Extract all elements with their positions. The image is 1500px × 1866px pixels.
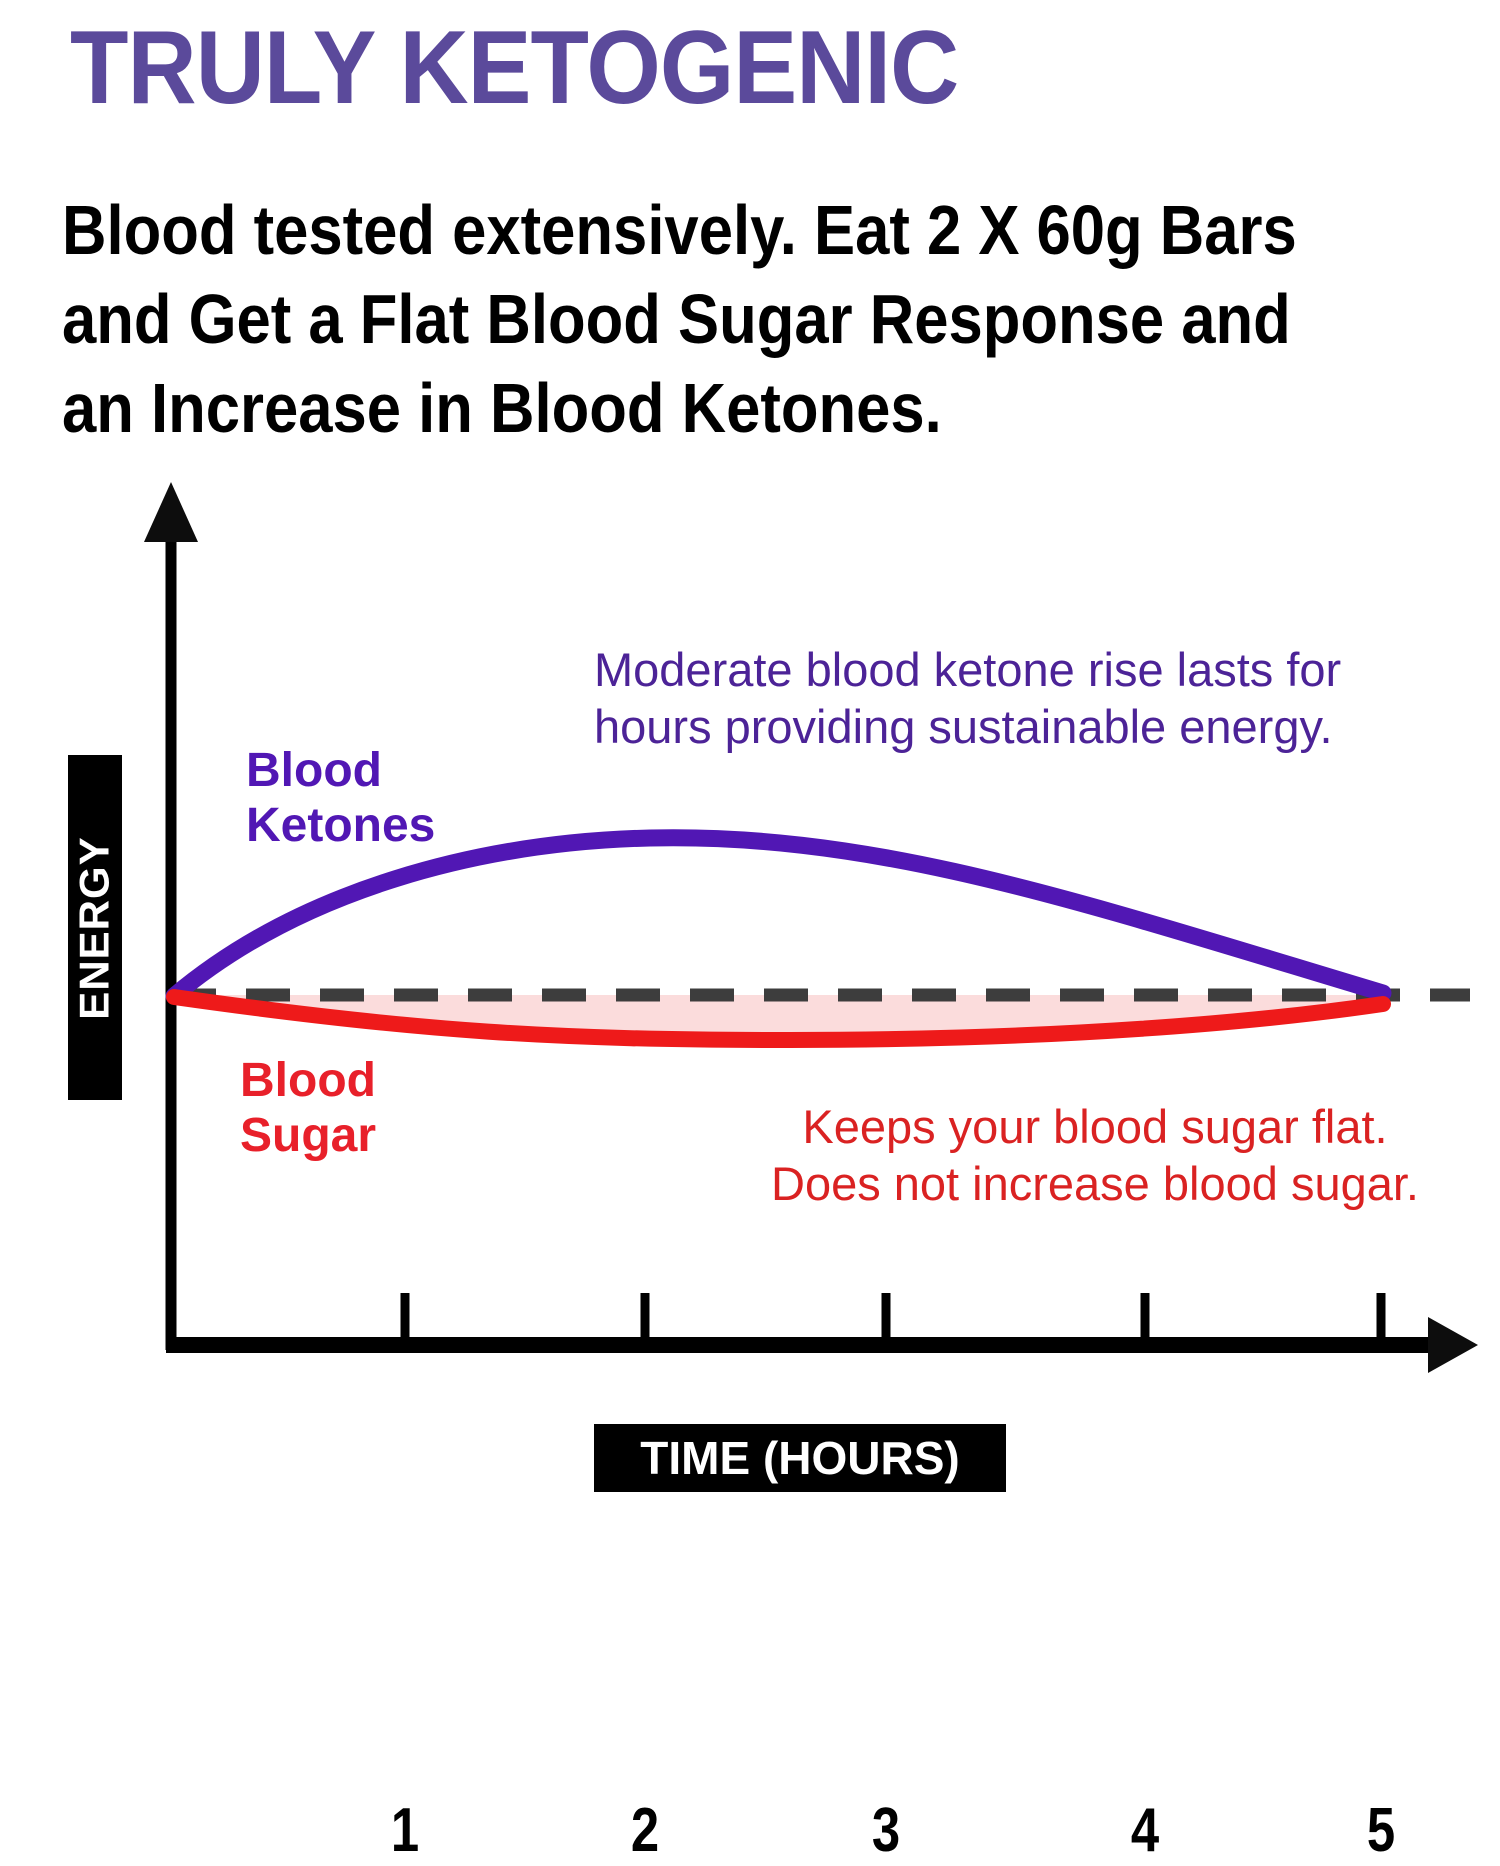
y-axis [144, 482, 198, 1350]
x-tick-label-3: 3 [861, 1795, 910, 1866]
energy-response-chart: 1 2 3 4 5 [0, 460, 1500, 1500]
page-subheadline: Blood tested extensively. Eat 2 X 60g Ba… [62, 186, 1303, 453]
x-tick-label-2: 2 [620, 1795, 669, 1866]
y-axis-label: ENERGY [71, 836, 119, 1019]
blood-ketones-curve [174, 838, 1383, 996]
subheadline-line-3: an Increase in Blood Ketones. [62, 364, 1303, 453]
subheadline-line-1: Blood tested extensively. Eat 2 X 60g Ba… [62, 186, 1303, 275]
x-axis-label-box: TIME (HOURS) [594, 1424, 1006, 1492]
x-tick-label-5: 5 [1356, 1795, 1405, 1866]
x-axis [166, 1317, 1478, 1373]
blood-ketones-series-label: Blood Ketones [246, 743, 435, 853]
sugar-annotation-text: Keeps your blood sugar flat. Does not in… [700, 1098, 1490, 1212]
x-tick-label-1: 1 [380, 1795, 429, 1866]
ketone-annotation-text: Moderate blood ketone rise lasts for hou… [594, 641, 1494, 755]
blood-sugar-series-label: Blood Sugar [240, 1053, 376, 1163]
subheadline-line-2: and Get a Flat Blood Sugar Response and [62, 275, 1303, 364]
page-headline: TRULY KETOGENIC [70, 16, 1358, 120]
x-axis-label: TIME (HOURS) [640, 1431, 959, 1485]
y-axis-label-box: ENERGY [68, 755, 122, 1100]
x-tick-label-4: 4 [1120, 1795, 1169, 1866]
